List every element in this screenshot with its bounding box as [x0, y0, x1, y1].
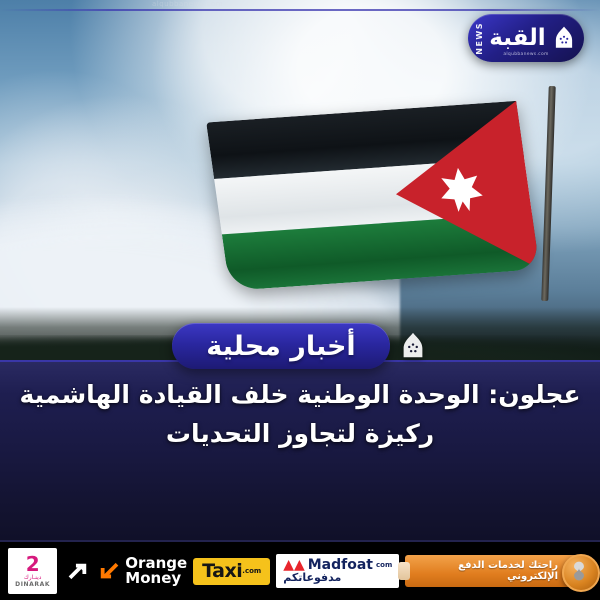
sponsor-epayment-banner[interactable]: راحتك لخدمات الدفع الإلكتروني — [405, 555, 592, 587]
category-badge-label: أخبار محلية — [206, 333, 355, 360]
banner-tab — [398, 562, 410, 580]
dome-icon — [551, 25, 577, 51]
logo-arabic-label: القبة — [489, 27, 545, 50]
site-watermark: alqubbanews.com — [152, 0, 372, 10]
headline-line-1: عجلون: الوحدة الوطنية خلف القيادة الهاشم… — [14, 376, 586, 415]
sponsor-orange-money[interactable]: Orange Money — [63, 556, 187, 587]
dinarak-english: DINARAK — [15, 582, 50, 588]
site-logo[interactable]: NEWS القبة alqubbanews.com — [468, 14, 584, 62]
headline-text: عجلون: الوحدة الوطنية خلف القيادة الهاشم… — [0, 376, 600, 454]
category-badge-row: أخبار محلية — [0, 320, 600, 372]
epayment-swirl-icon — [562, 554, 600, 592]
sponsor-dinarak[interactable]: 2 دينـارك DINARAK — [8, 548, 57, 594]
taxi-label: Taxi — [202, 562, 242, 581]
logo-news-label: NEWS — [475, 22, 484, 55]
hero-photo: alqubbanews.com NEWS القبة alqubbanews.c… — [0, 0, 600, 365]
flag-cloth — [206, 101, 540, 291]
seven-pointed-star-icon — [435, 165, 487, 214]
madfoat-row: ▲▲ Madfoat com — [283, 558, 392, 572]
headline-panel: أخبار محلية عجلون: الوحدة الوطنية خلف ال… — [0, 360, 600, 542]
sponsor-madfoat[interactable]: ▲▲ Madfoat com مدفوعاتكم — [276, 554, 399, 588]
sponsor-taxi[interactable]: Taxi.com — [193, 558, 270, 585]
logo-sub-label: alqubbanews.com — [468, 52, 584, 57]
headline-line-2: ركيزة لتجاوز التحديات — [14, 415, 586, 454]
dinarak-mark: 2 — [26, 554, 40, 574]
epayment-label: راحتك لخدمات الدفع الإلكتروني — [417, 560, 558, 582]
madfoat-arabic: مدفوعاتكم — [283, 572, 341, 584]
orange-money-arrows-icon — [67, 558, 120, 584]
orange-money-line2: Money — [125, 571, 187, 586]
dome-icon — [398, 331, 428, 361]
madfoat-mark-icon: ▲▲ — [283, 558, 305, 572]
flag-pole — [541, 86, 555, 301]
news-card: alqubbanews.com NEWS القبة alqubbanews.c… — [0, 0, 600, 600]
category-badge[interactable]: أخبار محلية — [172, 323, 389, 369]
madfoat-label: Madfoat — [308, 558, 373, 572]
taxi-com-suffix: .com — [242, 567, 261, 575]
orange-money-label: Orange Money — [125, 556, 187, 587]
sponsor-bar: 2 دينـارك DINARAK Orange Money Taxi.com — [0, 540, 600, 600]
jordanian-flag — [218, 86, 558, 301]
madfoat-com-suffix: com — [376, 561, 392, 569]
